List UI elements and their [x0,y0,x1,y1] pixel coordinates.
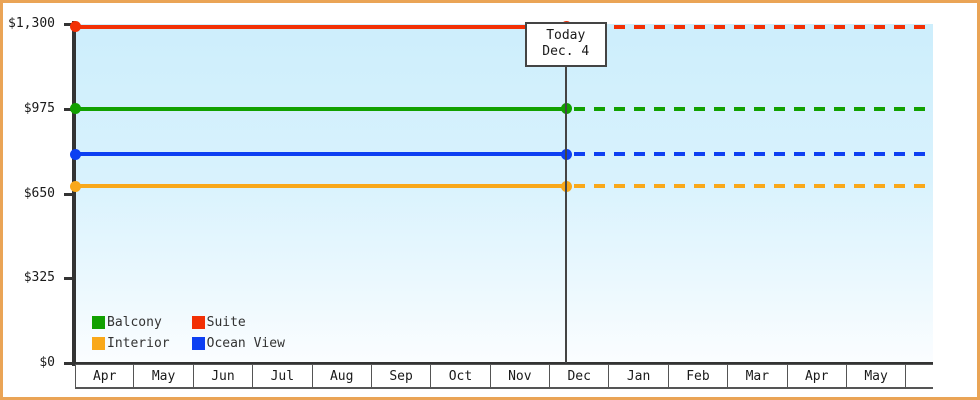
x-axis-month-cell[interactable]: May [847,365,906,387]
x-axis-month-cell[interactable]: Jan [609,365,668,387]
x-axis-month-cell[interactable]: Aug [313,365,372,387]
series-line-forecast-dashed [574,25,933,29]
x-axis-month-cell[interactable]: Mar [728,365,787,387]
y-axis-tick-label: $1,300 [8,16,55,31]
x-axis-month-strip: AprMayJunJulAugSepOctNovDecJanFebMarAprM… [75,364,933,389]
x-axis-month-cell[interactable]: Apr [75,365,134,387]
series-line-solid [75,25,566,29]
series-line-forecast-dashed [574,107,933,111]
series-line-solid [75,152,566,156]
legend-swatch-icon [92,337,105,350]
legend-item[interactable]: Suite [192,315,285,330]
series-line-forecast-dashed [574,152,933,156]
legend-label: Ocean View [207,336,285,351]
legend-swatch-icon [92,316,105,329]
series-line-forecast-dashed [574,184,933,188]
x-axis-month-cell[interactable]: Jul [253,365,312,387]
legend-item[interactable]: Interior [92,336,170,351]
legend-label: Interior [107,336,170,351]
today-vertical-line [565,63,567,363]
x-axis-month-cell[interactable]: May [134,365,193,387]
series-start-marker [70,149,81,160]
y-axis-tick [64,362,74,365]
today-callout-line2: Dec. 4 [537,44,595,60]
x-axis-month-cell[interactable]: Dec [550,365,609,387]
y-axis-tick-label: $650 [24,186,55,201]
series-line-solid [75,184,566,188]
chart-page: $1,300$975$650$325$0 Today Dec. 4 Balcon… [0,0,980,400]
x-axis-month-cell[interactable]: Jun [194,365,253,387]
today-callout-box: Today Dec. 4 [525,22,607,67]
legend: BalconySuiteInteriorOcean View [92,315,285,351]
today-callout-line1: Today [537,28,595,44]
y-axis-tick-label: $325 [24,270,55,285]
y-axis-tick [64,193,74,196]
y-axis-tick [64,277,74,280]
legend-label: Suite [207,315,246,330]
x-axis-month-cell[interactable]: Feb [669,365,728,387]
legend-item[interactable]: Ocean View [192,336,285,351]
x-axis-month-cell[interactable]: Sep [372,365,431,387]
x-axis-month-cell[interactable]: Apr [788,365,847,387]
legend-swatch-icon [192,337,205,350]
x-axis-month-cell[interactable]: Oct [431,365,490,387]
series-line-solid [75,107,566,111]
legend-label: Balcony [107,315,162,330]
plot-area [75,24,933,363]
series-start-marker [70,181,81,192]
legend-item[interactable]: Balcony [92,315,170,330]
x-axis-month-cell[interactable]: Nov [491,365,550,387]
price-history-line-chart: $1,300$975$650$325$0 Today Dec. 4 Balcon… [3,3,977,397]
y-axis-tick-label: $975 [24,101,55,116]
y-axis-tick-label: $0 [39,355,55,370]
x-axis-month-spacer [906,365,933,387]
legend-swatch-icon [192,316,205,329]
